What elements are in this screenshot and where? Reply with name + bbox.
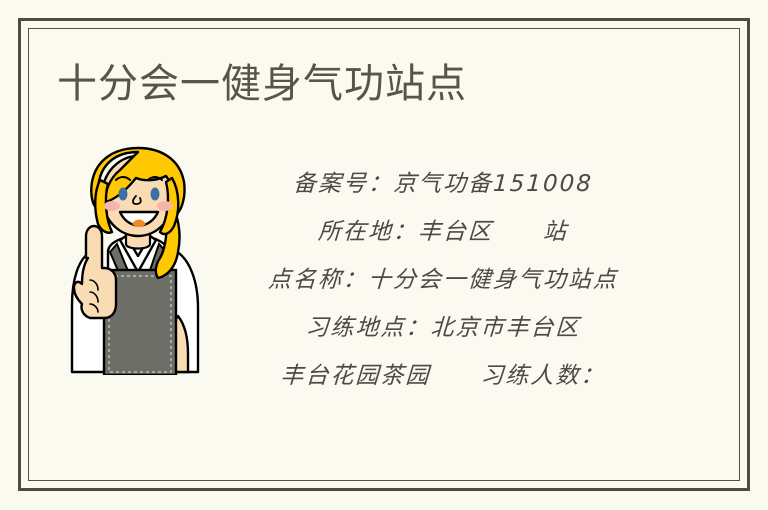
info-line-practice-place: 习练地点：北京市丰台区 (217, 304, 670, 352)
info-line-station-name: 点名称：十分会一健身气功站点 (217, 256, 670, 304)
page-title: 十分会一健身气功站点 (57, 60, 467, 108)
station-info-block: 备案号：京气功备151008 所在地：丰台区 站 点名称：十分会一健身气功站点 … (218, 160, 668, 400)
cartoon-woman-illustration (62, 140, 212, 375)
info-line-record-number: 备案号：京气功备151008 (217, 160, 670, 208)
info-line-practice-count: 丰台花园茶园 习练人数： (217, 352, 670, 400)
info-line-location: 所在地：丰台区 站 (217, 208, 670, 256)
info-card: 十分会一健身气功站点 (0, 0, 768, 510)
